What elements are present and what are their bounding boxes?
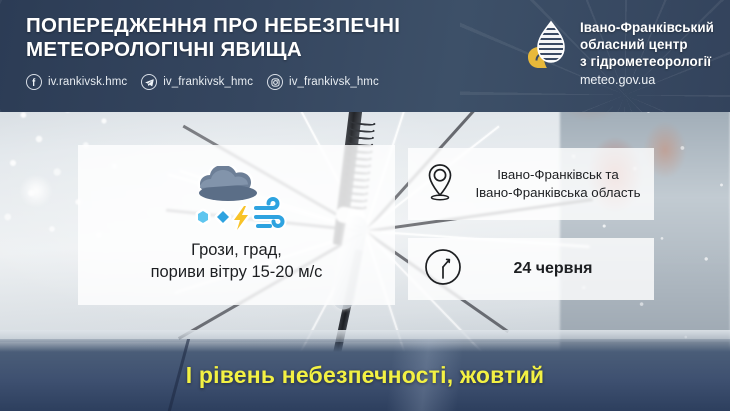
danger-level-text: І рівень небезпечності, жовтий [186, 362, 545, 389]
page-title-line2: МЕТЕОРОЛОГІЧНІ ЯВИЩА [26, 38, 302, 61]
warning-text-line2: пориви вітру 15-20 м/с [151, 263, 323, 281]
telegram-icon [141, 74, 157, 90]
header-left-block: ПОПЕРЕДЖЕННЯ ПРО НЕБЕЗПЕЧНІ МЕТЕОРОЛОГІЧ… [0, 0, 527, 112]
logo-text-block: Івано-Франківський обласний центр з гідр… [580, 20, 714, 87]
instagram-icon [267, 74, 283, 90]
logo-line-1: Івано-Франківський [580, 20, 714, 35]
date-card: 24 червня [408, 238, 654, 300]
header-banner: ПОПЕРЕДЖЕННЯ ПРО НЕБЕЗПЕЧНІ МЕТЕОРОЛОГІЧ… [0, 0, 730, 112]
location-text: Івано-Франківськ та Івано-Франківська об… [470, 166, 654, 202]
facebook-icon [26, 74, 42, 90]
organization-logo: Івано-Франківський обласний центр з гідр… [527, 0, 730, 112]
social-link-facebook[interactable]: iv.rankivsk.hmc [26, 74, 127, 90]
cloud-hail-lightning-wind-icon [182, 166, 292, 230]
logo-line-2: обласний центр [580, 37, 688, 52]
social-link-telegram[interactable]: iv_frankivsk_hmc [141, 74, 253, 90]
social-handle-telegram: iv_frankivsk_hmc [163, 76, 253, 88]
warning-card: Грози, град, пориви вітру 15-20 м/с [78, 145, 395, 305]
social-handle-facebook: iv.rankivsk.hmc [48, 76, 127, 88]
page-title-line1: ПОПЕРЕДЖЕННЯ ПРО НЕБЕЗПЕЧНІ [26, 14, 400, 37]
logo-website[interactable]: meteo.gov.ua [580, 73, 714, 87]
location-line1: Івано-Франківськ та [497, 167, 619, 182]
social-link-instagram[interactable]: iv_frankivsk_hmc [267, 74, 379, 90]
hydrometeorology-droplet-logo-icon [527, 20, 569, 72]
page-title: ПОПЕРЕДЖЕННЯ ПРО НЕБЕЗПЕЧНІ МЕТЕОРОЛОГІЧ… [26, 14, 527, 62]
clock-icon [424, 248, 462, 291]
location-line2: Івано-Франківська область [475, 185, 640, 200]
warning-text: Грози, град, пориви вітру 15-20 м/с [135, 240, 339, 284]
map-pin-icon [424, 162, 456, 207]
weather-warning-infographic: ПОПЕРЕДЖЕННЯ ПРО НЕБЕЗПЕЧНІ МЕТЕОРОЛОГІЧ… [0, 0, 730, 411]
social-links: iv.rankivsk.hmc iv_frankivsk_hmc [26, 74, 527, 90]
date-value: 24 червня [476, 260, 654, 278]
danger-level-banner: І рівень небезпечності, жовтий [0, 339, 730, 411]
warning-text-line1: Грози, град, [191, 241, 282, 259]
social-handle-instagram: iv_frankivsk_hmc [289, 76, 379, 88]
location-card: Івано-Франківськ та Івано-Франківська об… [408, 148, 654, 220]
logo-line-3: з гідрометеорології [580, 54, 711, 69]
